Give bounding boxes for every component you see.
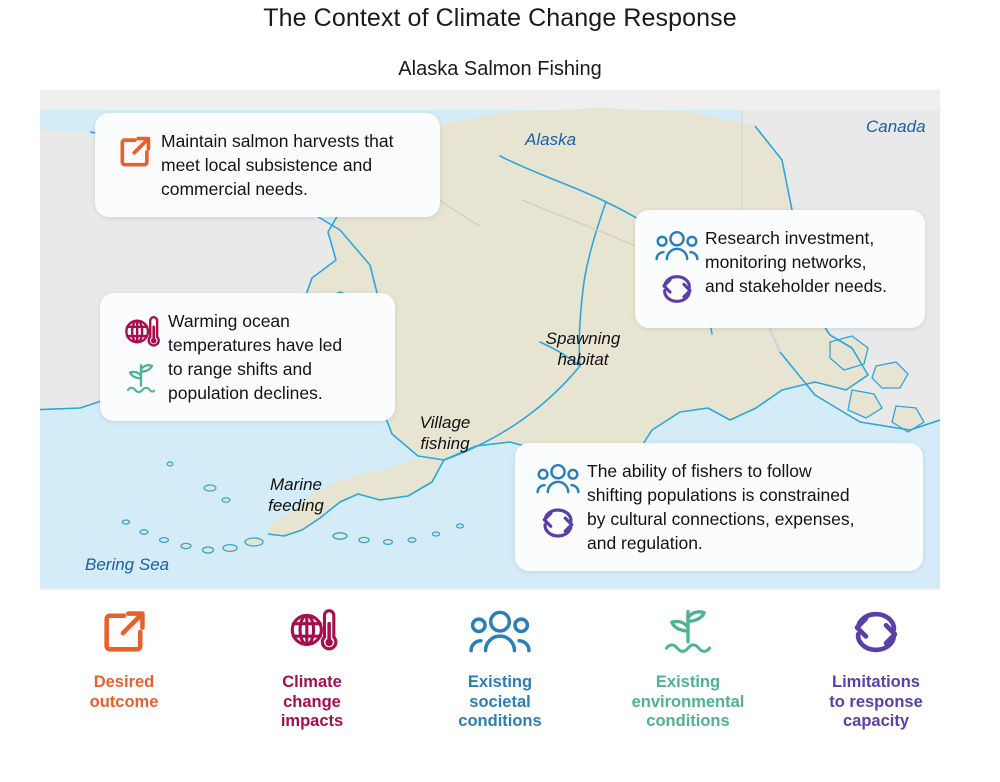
legend-item-climate-change-impacts[interactable]: Climate change impacts <box>232 600 392 732</box>
legend: Desired outcome Climate change impacts <box>0 600 1000 782</box>
legend-item-desired-outcome[interactable]: Desired outcome <box>44 600 204 712</box>
callout-text: Maintain salmon harvests that meet local… <box>161 129 393 201</box>
legend-label: Limitations to response capacity <box>829 673 923 732</box>
climate-impacts-callout[interactable]: Warming ocean temperatures have led to r… <box>100 293 395 421</box>
legend-label: Existing societal conditions <box>458 673 541 732</box>
people-group-icon <box>536 463 580 500</box>
legend-label: Climate change impacts <box>281 673 343 732</box>
infographic-page: The Context of Climate Change Response A… <box>0 0 1000 782</box>
cycle-arrows-icon <box>657 271 697 312</box>
globe-thermometer-icon <box>121 313 161 358</box>
callout-icon-group <box>109 129 161 176</box>
sprout-waves-icon <box>122 362 160 401</box>
callout-text: The ability of fishers to follow shiftin… <box>587 459 855 555</box>
callout-icon-group <box>649 226 705 312</box>
people-group-icon <box>469 600 531 664</box>
response-limits-callout[interactable]: The ability of fishers to follow shiftin… <box>515 443 923 571</box>
cycle-arrows-icon <box>847 600 905 664</box>
desired-outcome-callout[interactable]: Maintain salmon harvests that meet local… <box>95 113 440 217</box>
legend-label: Existing environmental conditions <box>632 673 745 732</box>
legend-item-existing-environmental-conditions[interactable]: Existing environmental conditions <box>608 600 768 732</box>
cycle-arrows-icon <box>537 504 579 547</box>
people-group-icon <box>655 230 699 267</box>
sprout-waves-icon <box>660 600 716 664</box>
callout-text: Warming ocean temperatures have led to r… <box>168 309 342 405</box>
globe-thermometer-icon <box>284 600 340 664</box>
callout-text: Research investment, monitoring networks… <box>705 226 887 298</box>
legend-item-limitations-to-response-capacity[interactable]: Limitations to response capacity <box>796 600 956 732</box>
arrow-out-box-icon <box>116 133 154 176</box>
page-title: The Context of Climate Change Response <box>0 4 1000 33</box>
societal-conditions-callout[interactable]: Research investment, monitoring networks… <box>635 210 925 328</box>
callout-icon-group <box>529 459 587 547</box>
page-subtitle: Alaska Salmon Fishing <box>0 58 1000 81</box>
arrow-out-box-icon <box>98 600 150 664</box>
legend-label: Desired outcome <box>90 673 159 712</box>
callout-icon-group <box>114 309 168 401</box>
legend-item-existing-societal-conditions[interactable]: Existing societal conditions <box>420 600 580 732</box>
